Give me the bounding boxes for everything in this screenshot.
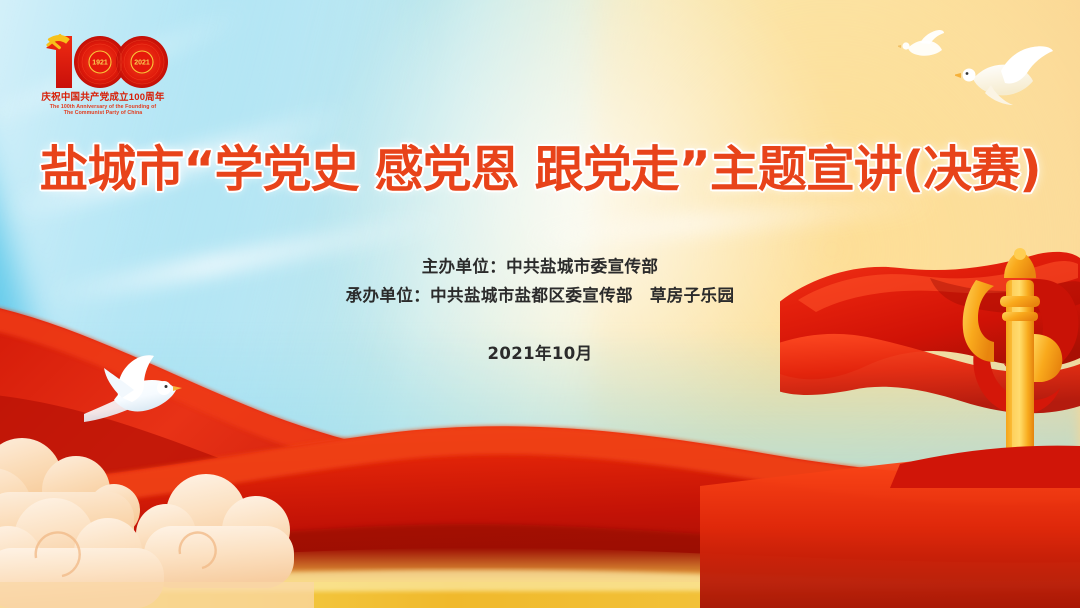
dove-icon [955,45,1053,107]
auspicious-clouds [0,430,314,608]
logo-year-right: 2021 [134,60,150,67]
logo-numeral-100: 1921 2021 [38,26,168,92]
logo-caption-cn: 庆祝中国共产党成立100周年 [38,92,168,103]
event-date: 2021年10月 [0,340,1080,364]
poster-title: 盐城市“学党史 感党恩 跟党走”主题宣讲(决赛) [0,139,1080,201]
poster-canvas: 1921 2021 庆祝中国共产党成立100周年 The 100th Anniv… [0,0,1080,608]
dove-icon [898,30,944,60]
logo-caption-en-line2: The Communist Party of China [38,110,168,116]
co-organizer-line: 承办单位：中共盐城市盐都区委宣传部 草房子乐园 [0,281,1080,310]
logo-year-left: 1921 [92,60,108,67]
party-centenary-logo: 1921 2021 庆祝中国共产党成立100周年 The 100th Anniv… [38,26,168,122]
logo-caption-en: The 100th Anniversary of the Founding of… [38,104,168,117]
organizer-block: 主办单位：中共盐城市委宣传部 承办单位：中共盐城市盐都区委宣传部 草房子乐园 [0,252,1080,310]
organizer-line: 主办单位：中共盐城市委宣传部 [0,252,1080,281]
